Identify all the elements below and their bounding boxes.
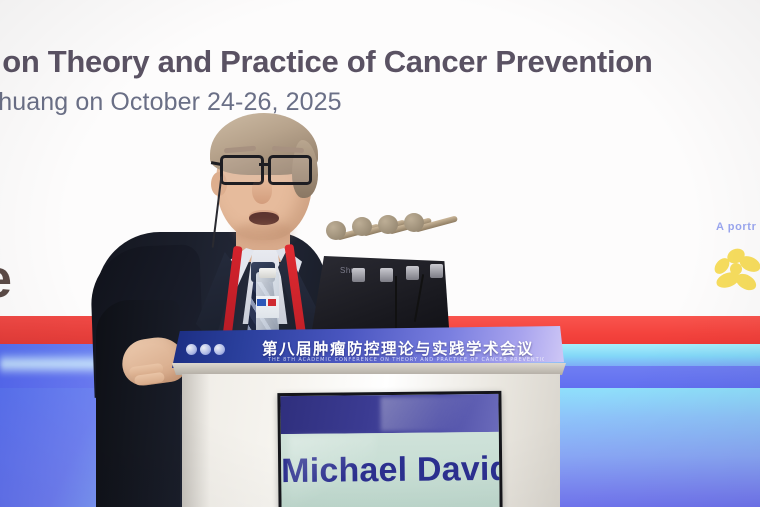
microphone-icon xyxy=(404,218,458,230)
water-bottle-cap xyxy=(259,268,276,278)
microphone-base xyxy=(380,268,393,282)
water-bottle-label-blue-mark xyxy=(257,299,266,306)
eyeglass-bridge xyxy=(259,163,269,166)
microphone-windscreen xyxy=(378,215,398,234)
podium-logo-icon xyxy=(200,344,211,355)
podium-logo-icon xyxy=(214,344,225,355)
podium-body-shadow xyxy=(182,374,210,507)
eyeglass-lens-right xyxy=(268,155,312,185)
microphone-cable xyxy=(395,276,397,328)
microphone-base xyxy=(352,268,365,282)
microphone-base xyxy=(406,266,419,280)
conference-photo: ce on Theory and Practice of Cancer Prev… xyxy=(0,0,760,507)
podium-logo-group xyxy=(186,341,234,357)
podium-conference-title: 第八届肿瘤防控理论与实践学术会议 xyxy=(262,337,552,359)
microphone-windscreen xyxy=(326,221,346,240)
podium-logo-icon xyxy=(186,344,197,355)
speaker-nose xyxy=(252,178,272,204)
water-bottle-label-red-mark xyxy=(268,299,276,306)
nameplate-band-glare xyxy=(380,396,500,431)
speaker-nameplate: Michael David xyxy=(277,391,502,507)
microphone-windscreen xyxy=(404,213,424,232)
speaker-chin-shadow xyxy=(234,222,294,242)
speaker-left-arm xyxy=(96,300,180,507)
microphone-base xyxy=(430,264,443,278)
podium-conference-subtitle: THE 8TH ACADEMIC CONFERENCE ON THEORY AN… xyxy=(268,357,544,363)
nameplate-glare xyxy=(289,435,376,506)
microphone-windscreen xyxy=(352,217,372,236)
eyeglasses-icon xyxy=(219,155,311,179)
